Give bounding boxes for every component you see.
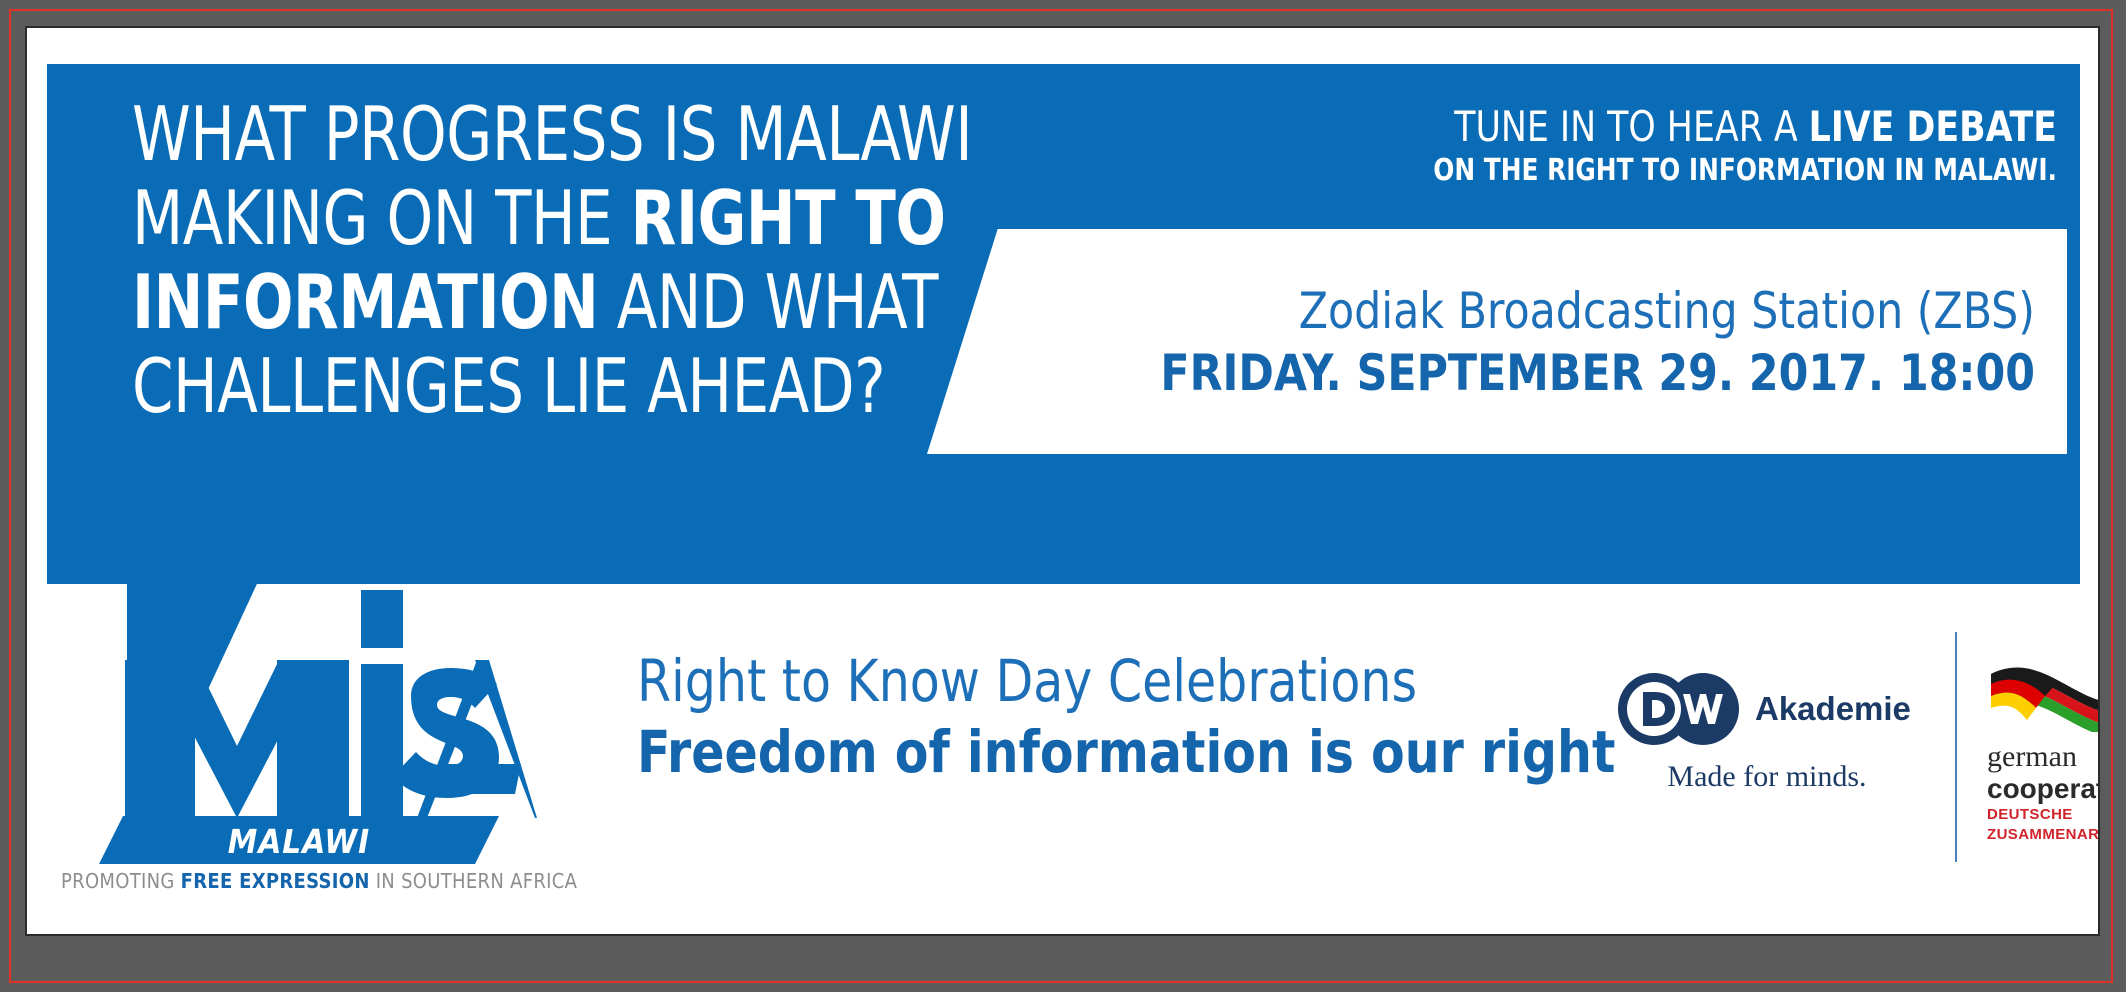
headline-line-2-normal: MAKING ON THE [132,174,631,262]
poster-canvas: WHAT PROGRESS IS MALAWI MAKING ON THE RI… [25,26,2100,936]
tune-in-line-2: ON THE RIGHT TO INFORMATION IN MALAWI. [1284,152,2057,190]
headline-line-2: MAKING ON THE RIGHT TO [132,176,1118,260]
blue-header-band: WHAT PROGRESS IS MALAWI MAKING ON THE RI… [47,64,2080,584]
gc-line-german: german [1987,741,2100,773]
headline-line-2-bold: RIGHT TO [631,174,946,262]
slogan-line-1: Right to Know Day Celebrations [637,646,1521,716]
misa-wordmark-icon [117,568,537,818]
event-details-inner: Zodiak Broadcasting Station (ZBS) FRIDAY… [927,281,2035,405]
headline-line-3-bold: INFORMATION [132,258,598,346]
tune-in-line-1-normal: TUNE IN TO HEAR A [1454,102,1808,151]
dw-akademie-logo: Akademie Made for minds. [1617,672,1947,794]
headline-line-3-normal: AND WHAT [598,258,938,346]
misa-malawi-logo: MALAWI PROMOTING FREE EXPRESSION IN SOUT… [47,564,597,894]
slogan-line-2: Freedom of information is our right [637,716,1521,788]
tune-in-line-1: TUNE IN TO HEAR A LIVE DEBATE [1284,102,2057,152]
dw-logo-row: Akademie [1617,672,1947,746]
german-cooperation-text: german cooperation DEUTSCHE ZUSAMMENARBE… [1987,741,2100,845]
partner-logos: Akademie Made for minds. [1587,642,2087,872]
partner-divider [1955,632,1957,862]
dw-mark-icon [1617,672,1743,746]
german-cooperation-logo: german cooperation DEUTSCHE ZUSAMMENARBE… [1987,652,2100,845]
gc-line-cooperation: cooperation [1987,773,2100,805]
tune-in-line-1-bold: LIVE DEBATE [1809,102,2057,151]
event-datetime: FRIDAY. SEPTEMBER 29. 2017. 18:00 [982,341,2035,405]
misa-tagline: PROMOTING FREE EXPRESSION IN SOUTHERN AF… [61,869,561,893]
misa-country-label: MALAWI [99,822,499,861]
screenshot-frame: WHAT PROGRESS IS MALAWI MAKING ON THE RI… [0,0,2126,992]
misa-country-bar: MALAWI [99,816,499,864]
misa-tagline-post: IN SOUTHERN AFRICA [370,869,578,893]
event-details-card: Zodiak Broadcasting Station (ZBS) FRIDAY… [927,229,2067,454]
headline-line-1: WHAT PROGRESS IS MALAWI [132,92,1118,176]
tune-in-block: TUNE IN TO HEAR A LIVE DEBATE ON THE RIG… [1284,102,2057,190]
dw-akademie-label: Akademie [1755,690,1911,728]
celebration-slogan: Right to Know Day Celebrations Freedom o… [637,646,1577,788]
misa-tagline-bold: FREE EXPRESSION [181,869,370,893]
event-station: Zodiak Broadcasting Station (ZBS) [982,281,2035,341]
dw-tagline: Made for minds. [1617,760,1917,794]
poster-footer-band: MALAWI PROMOTING FREE EXPRESSION IN SOUT… [27,584,2098,934]
gc-line-deutsche-zusammenarbeit: DEUTSCHE ZUSAMMENARBEIT [1987,805,2100,845]
misa-tagline-pre: PROMOTING [61,869,181,893]
german-malawi-flag-wave-icon [1987,652,2100,732]
